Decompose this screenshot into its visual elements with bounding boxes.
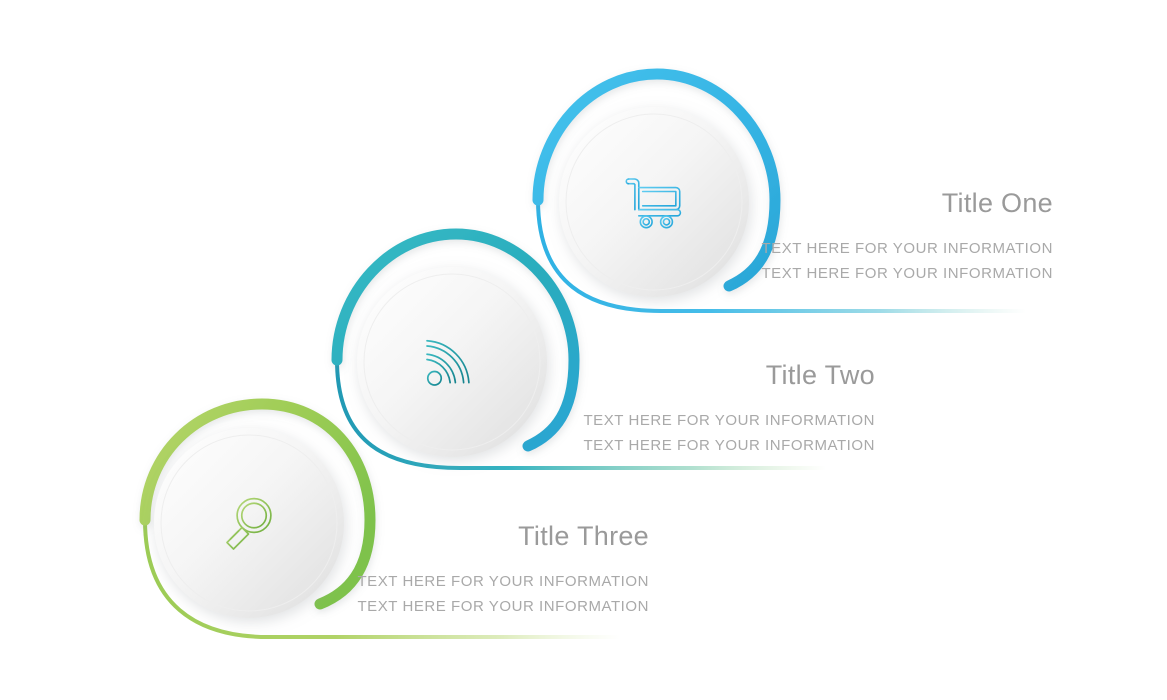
subline-one-2: TEXT HERE FOR YOUR INFORMATION [653,261,1053,286]
subline-three-2: TEXT HERE FOR YOUR INFORMATION [249,594,649,619]
infographic-canvas: Title One TEXT HERE FOR YOUR INFORMATION… [0,0,1167,700]
text-block-one: Title One TEXT HERE FOR YOUR INFORMATION… [653,190,1053,286]
title-three: Title Three [249,523,649,550]
subline-one-1: TEXT HERE FOR YOUR INFORMATION [653,236,1053,261]
title-one: Title One [653,190,1053,217]
subline-two-2: TEXT HERE FOR YOUR INFORMATION [475,433,875,458]
text-block-two: Title Two TEXT HERE FOR YOUR INFORMATION… [475,362,875,458]
title-two: Title Two [475,362,875,389]
subline-two-1: TEXT HERE FOR YOUR INFORMATION [475,408,875,433]
subline-three-1: TEXT HERE FOR YOUR INFORMATION [249,569,649,594]
text-block-three: Title Three TEXT HERE FOR YOUR INFORMATI… [249,523,649,619]
